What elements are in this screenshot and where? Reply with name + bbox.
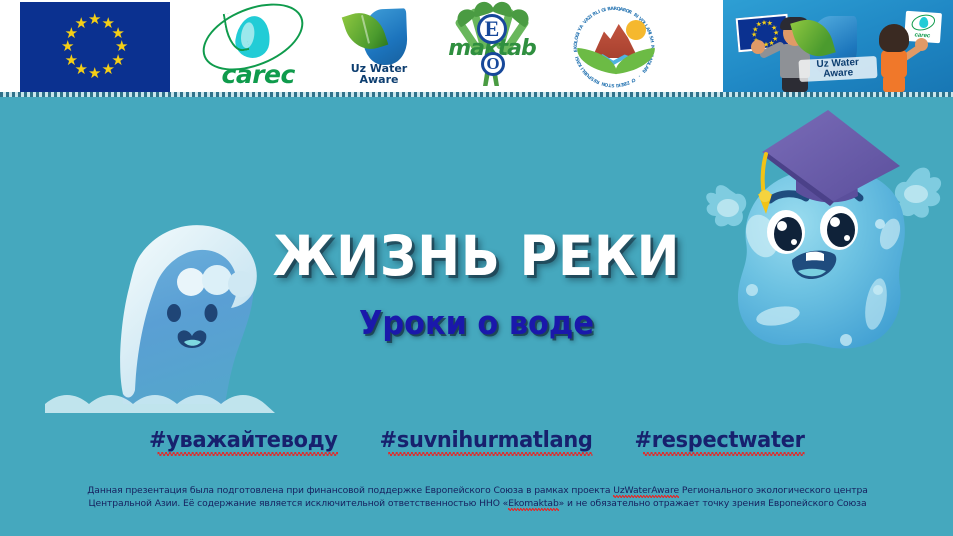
eu-star-icon: ★ [88,67,101,80]
torso-shape [881,50,907,78]
eu-star-icon: ★ [102,63,115,76]
hashtag-suvnihurmatlang: #suvnihurmatlang [380,428,593,456]
hashtag-respectwater: #respectwater [635,428,805,456]
eu-star-icon: ★ [88,13,101,26]
slide-subtitle: Уроки о воде [38,303,915,342]
disclaimer-part3: » и не обязательно отражает точку зрения… [559,498,867,509]
woman-character-illustration [869,24,925,92]
ministry-circular-text-char: I [616,82,618,87]
water-surface-line [45,395,275,413]
blob-hand-left [706,185,746,226]
uzwateraware-cartoon-banner: ★★★★★★★★★★★★ carec Uz Water Aware [723,0,953,92]
european-union-flag-icon: ★★★★★★★★★★★★ [20,2,170,92]
ekomaktab-letter-e: E [477,14,507,44]
logo-cell-uzwateraware: Uz Water Aware [325,0,433,92]
ekomaktab-letter-o: O [481,52,505,76]
eu-star-icon: ★ [751,33,758,40]
eu-star-icon: ★ [75,17,88,30]
tree-leaf-icon [509,5,533,28]
ministry-circular-text-char: S [611,82,614,87]
uzwateraware-line2: Aware [331,74,427,85]
carec-wordmark: carec [222,60,295,89]
disclaimer-ekomaktab-mention: Ekomaktab [508,498,558,509]
eu-star-icon: ★ [61,40,74,53]
hashtag-respectwater-ru: #уважайтеводу [148,428,337,456]
eu-star-icon: ★ [756,23,763,30]
presentation-slide: ★★★★★★★★★★★★ carec Uz Water Aware [0,0,953,536]
disclaimer-part1: Данная презентация была подготовлена при… [87,485,613,496]
disclaimer-uzwateraware-mention: UzWaterAware [613,485,679,496]
uzwateraware-wordmark: Uz Water Aware [331,63,427,85]
ekomaktab-logo-icon: maktab E O [437,2,547,90]
ministry-of-ecology-logo-icon: BARQAROR RIVOJLANISH MAQSADLARI · O'ZBEK… [560,2,672,90]
eu-star-icon: ★ [65,54,78,67]
carec-logo-icon: carec [188,4,318,88]
tassel-ball [759,190,771,202]
uzwateraware-banner-wordmark: Uz Water Aware [798,56,877,82]
logo-cell-carec: carec [180,0,325,92]
hand-shape [915,38,928,51]
uzwateraware-logo-icon: Uz Water Aware [331,3,427,89]
logo-cell-ministry-ecology: BARQAROR RIVOJLANISH MAQSADLARI · O'ZBEK… [551,0,681,92]
ministry-circular-text-char [649,42,654,44]
hashtag-row: #уважайтеводу #suvnihurmatlang #respectw… [0,428,953,456]
legs-shape [883,76,905,92]
hand-shape [751,40,765,54]
hair-shape [879,24,909,52]
sun-icon [626,20,646,40]
slide-title: ЖИЗНЬ РЕКИ [33,224,919,288]
logo-cell-ekomaktab: maktab E O [433,0,551,92]
logo-cell-eu-flag: ★★★★★★★★★★★★ [0,0,180,92]
header-divider [0,92,953,97]
funding-disclaimer: Данная презентация была подготовлена при… [55,484,900,510]
